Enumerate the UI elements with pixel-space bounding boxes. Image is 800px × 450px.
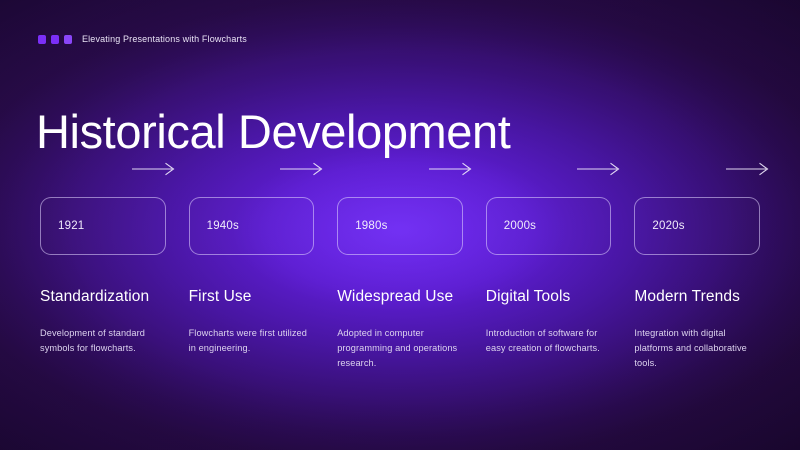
arrow-right-icon — [132, 162, 178, 176]
detail-description: Introduction of software for easy creati… — [486, 326, 612, 356]
brand-label: Elevating Presentations with Flowcharts — [82, 34, 247, 44]
timeline-row: 1921 1940s 1980s — [40, 155, 760, 255]
arrow-right-icon — [429, 162, 475, 176]
timeline-card[interactable]: 1940s — [189, 197, 315, 255]
brand-dots — [38, 35, 72, 44]
timeline-year: 1940s — [207, 220, 239, 232]
arrow-right-icon — [280, 162, 326, 176]
timeline-year: 2000s — [504, 220, 536, 232]
detail-description: Flowcharts were first utilized in engine… — [189, 326, 315, 356]
detail-title: Standardization — [40, 288, 166, 306]
detail-title: Widespread Use — [337, 288, 463, 306]
detail-title: First Use — [189, 288, 315, 306]
timeline-card[interactable]: 1921 — [40, 197, 166, 255]
arrow-slot — [634, 155, 760, 197]
timeline-year: 1921 — [58, 220, 84, 232]
arrow-slot — [189, 155, 315, 197]
details-row: Standardization Development of standard … — [40, 288, 760, 371]
page-title: Historical Development — [36, 107, 510, 156]
timeline-year: 1980s — [355, 220, 387, 232]
slide-root: Elevating Presentations with Flowcharts … — [0, 0, 800, 450]
timeline-card[interactable]: 2020s — [634, 197, 760, 255]
detail-description: Integration with digital platforms and c… — [634, 326, 760, 371]
detail-column: Standardization Development of standard … — [40, 288, 166, 371]
brand-dot-icon — [64, 35, 72, 44]
timeline-column: 1940s — [189, 155, 315, 255]
timeline-column: 2000s — [486, 155, 612, 255]
detail-description: Development of standard symbols for flow… — [40, 326, 166, 356]
detail-column: Modern Trends Integration with digital p… — [634, 288, 760, 371]
brand-bar: Elevating Presentations with Flowcharts — [38, 34, 247, 44]
timeline-column: 1921 — [40, 155, 166, 255]
arrow-right-icon — [726, 162, 772, 176]
arrow-slot — [40, 155, 166, 197]
brand-dot-icon — [51, 35, 59, 44]
arrow-slot — [486, 155, 612, 197]
timeline-column: 1980s — [337, 155, 463, 255]
brand-dot-icon — [38, 35, 46, 44]
arrow-slot — [337, 155, 463, 197]
arrow-right-icon — [577, 162, 623, 176]
detail-column: Digital Tools Introduction of software f… — [486, 288, 612, 371]
detail-title: Digital Tools — [486, 288, 612, 306]
timeline-year: 2020s — [652, 220, 684, 232]
detail-column: First Use Flowcharts were first utilized… — [189, 288, 315, 371]
detail-title: Modern Trends — [634, 288, 760, 306]
detail-description: Adopted in computer programming and oper… — [337, 326, 463, 371]
timeline-card[interactable]: 1980s — [337, 197, 463, 255]
timeline-card[interactable]: 2000s — [486, 197, 612, 255]
detail-column: Widespread Use Adopted in computer progr… — [337, 288, 463, 371]
timeline-column: 2020s — [634, 155, 760, 255]
